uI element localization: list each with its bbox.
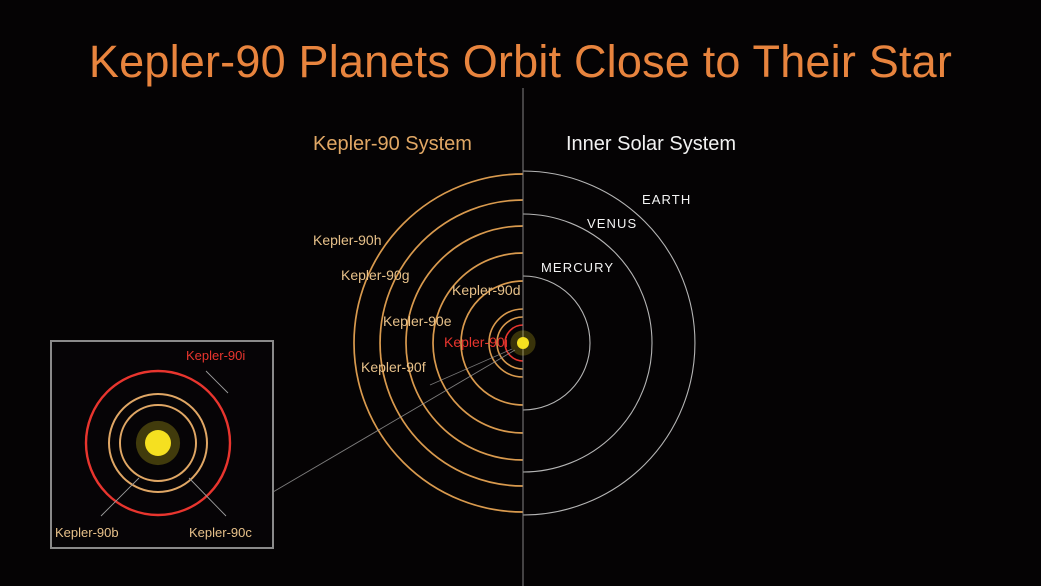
orbit-earth — [523, 171, 695, 515]
inset-star — [145, 430, 171, 456]
central-star — [510, 330, 535, 355]
infographic-canvas: Kepler-90 Planets Orbit Close to Their S… — [0, 0, 1041, 586]
solar-orbit-group — [523, 171, 695, 515]
kepler-orbit-group — [354, 174, 523, 512]
orbit-kepler-90g — [380, 200, 523, 486]
orbit-kepler-90e — [433, 253, 523, 433]
inset-panel — [51, 341, 273, 548]
orbit-venus — [523, 214, 652, 472]
orbit-diagram — [0, 0, 1041, 586]
